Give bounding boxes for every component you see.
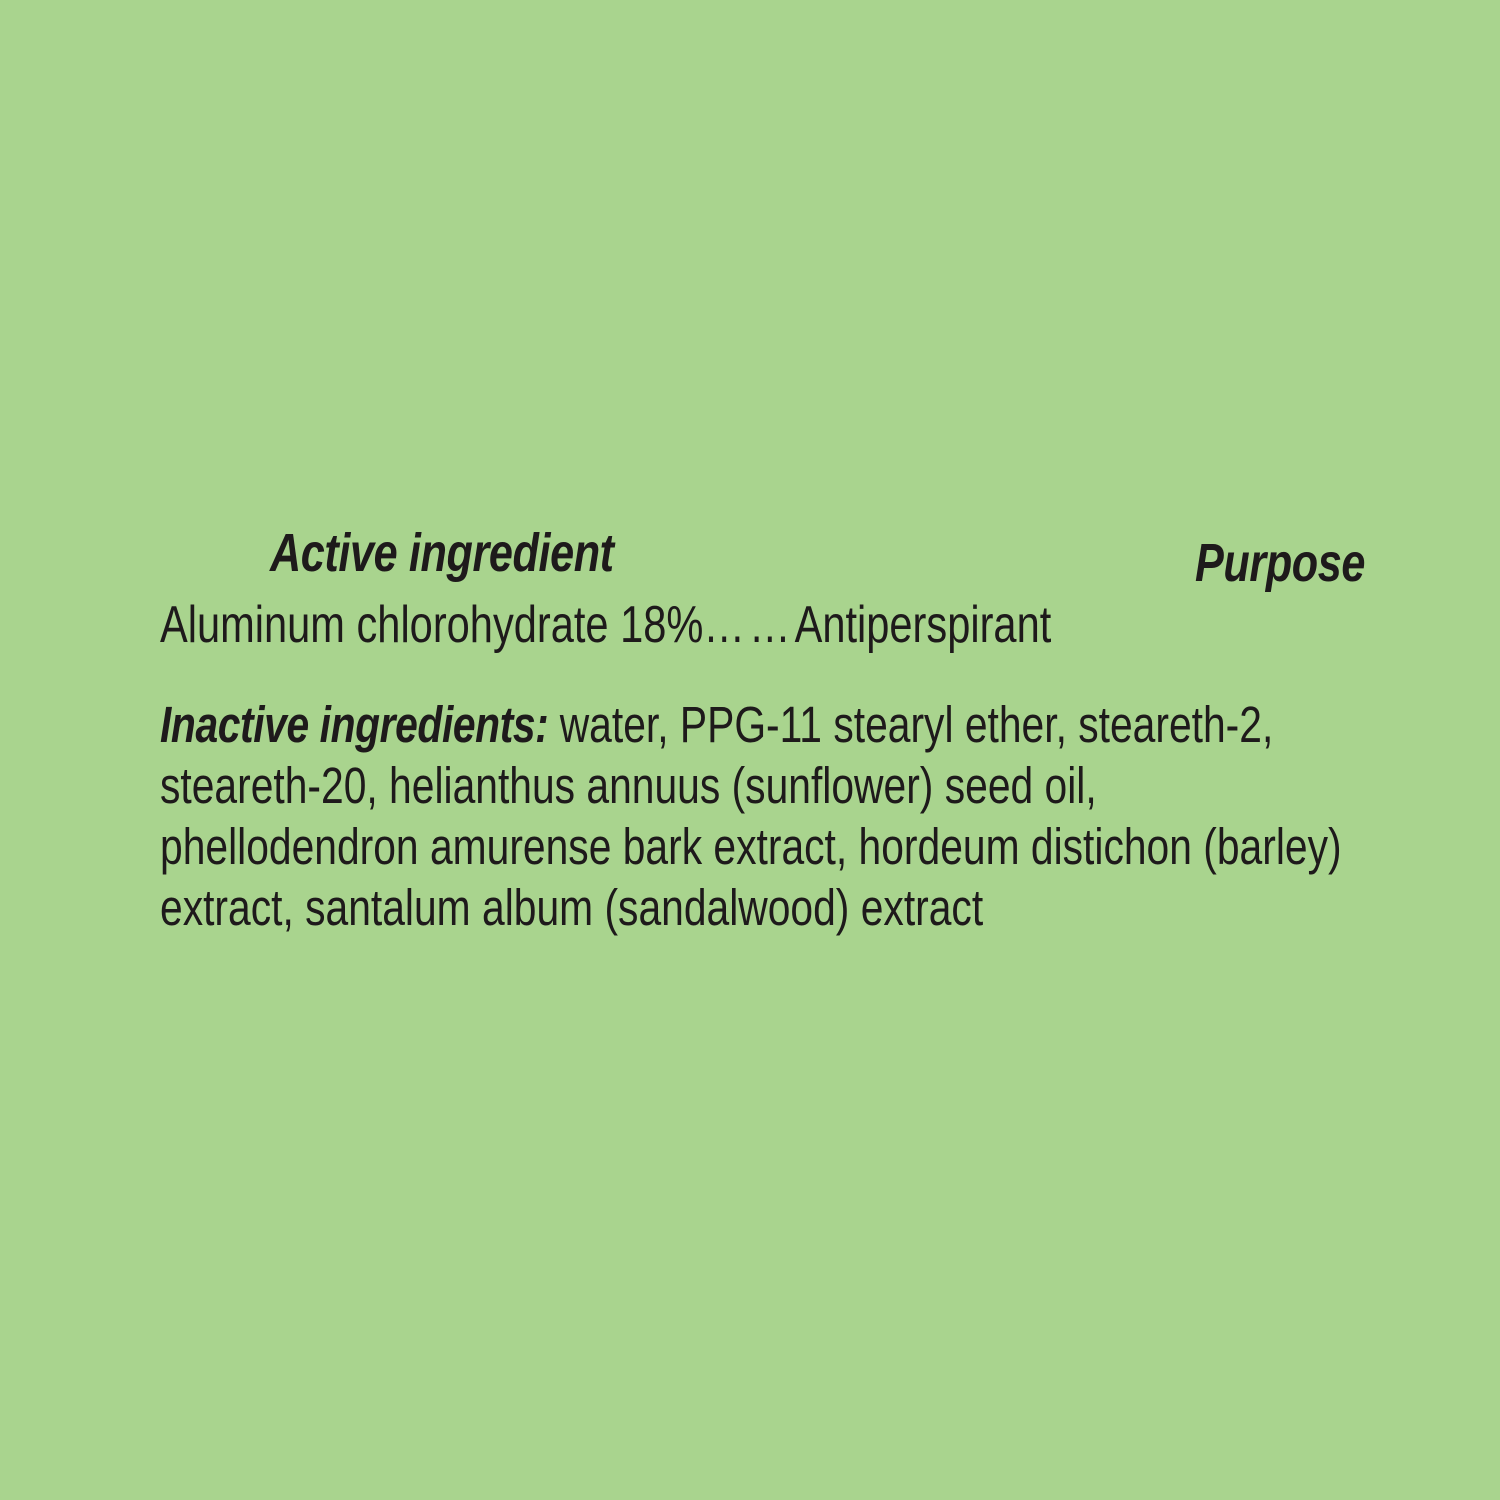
ingredient-heading-row: Active ingredient Purpose xyxy=(160,524,1340,586)
drug-facts-ingredients-panel: Active ingredient Purpose Aluminum chlor… xyxy=(0,0,1500,1500)
active-ingredient-heading: Active ingredient xyxy=(270,524,614,582)
purpose-heading: Purpose xyxy=(1195,534,1365,592)
active-ingredient-value: Aluminum chlorohydrate 18% xyxy=(160,596,703,654)
active-ingredient-line: Aluminum chlorohydrate 18%……Antiperspira… xyxy=(160,597,1336,653)
purpose-value: Antiperspirant xyxy=(795,596,1052,654)
inactive-ingredients-block: Inactive ingredients: water, PPG-11 stea… xyxy=(160,694,1342,938)
inactive-ingredients-label: Inactive ingredients: xyxy=(160,696,548,753)
dot-leader: …… xyxy=(703,596,794,654)
